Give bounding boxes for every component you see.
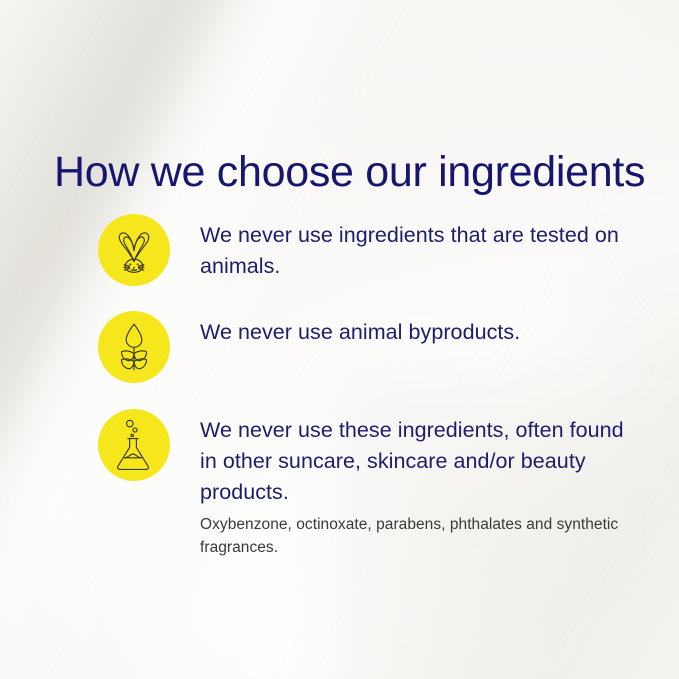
promise-text: We never use animal byproducts.	[200, 317, 638, 348]
promise-badge-cruelty-free	[98, 214, 170, 286]
erlenmeyer-flask-icon	[112, 419, 156, 471]
promise-body: We never use ingredients that are tested…	[170, 214, 638, 282]
plant-leaf-droplet-icon	[113, 322, 155, 372]
promise-body: We never use these ingredients, often fo…	[170, 409, 638, 559]
list-item: We never use ingredients that are tested…	[98, 214, 638, 286]
list-item: We never use animal byproducts.	[98, 311, 638, 383]
promise-list: We never use ingredients that are tested…	[98, 214, 638, 559]
promise-text: We never use these ingredients, often fo…	[200, 415, 638, 508]
page-title: How we choose our ingredients	[54, 151, 654, 194]
promise-text: We never use ingredients that are tested…	[200, 220, 638, 282]
content-layer: How we choose our ingredients	[0, 0, 679, 679]
list-item: We never use these ingredients, often fo…	[98, 409, 638, 559]
promise-body: We never use animal byproducts.	[170, 311, 638, 348]
promise-badge-no-byproducts	[98, 311, 170, 383]
promise-subtext: Oxybenzone, octinoxate, parabens, phthal…	[200, 513, 638, 559]
promise-badge-no-chemicals	[98, 409, 170, 481]
bunny-heart-ears-icon	[111, 226, 157, 274]
ingredient-promise-card: How we choose our ingredients	[0, 0, 679, 679]
